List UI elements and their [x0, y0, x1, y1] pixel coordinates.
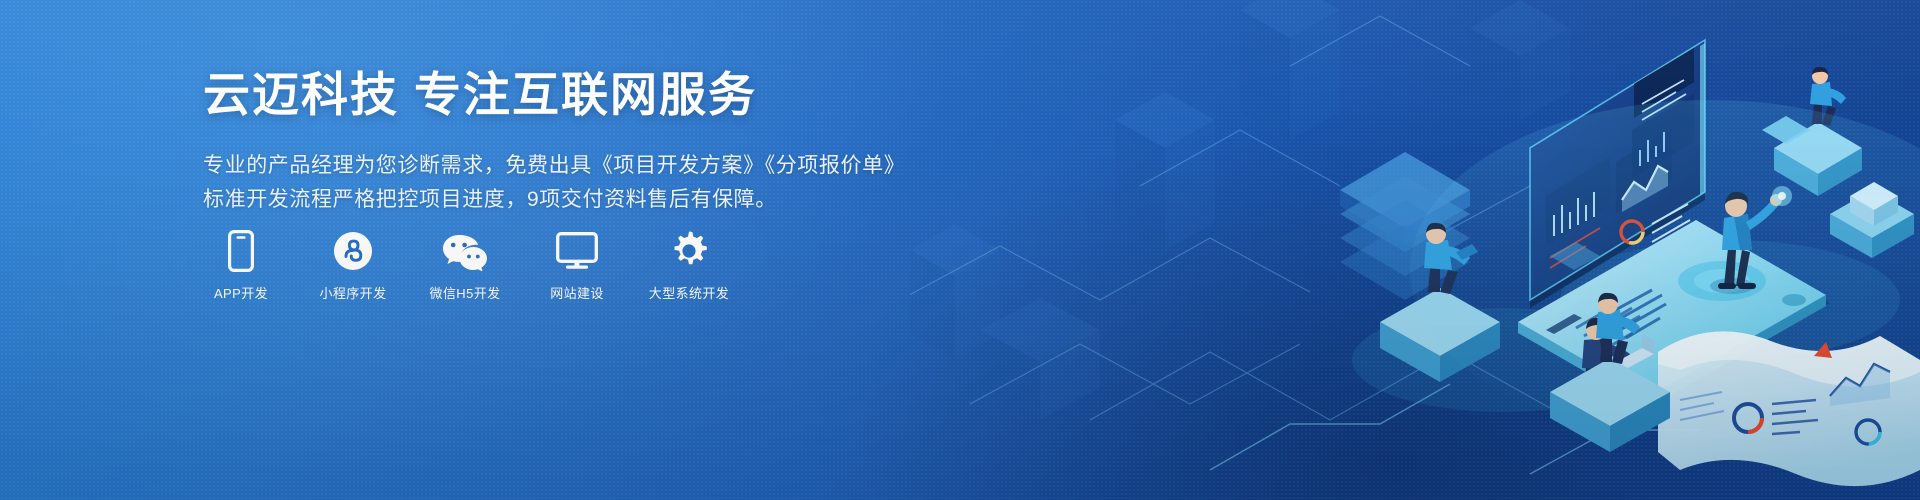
service-label: 微信H5开发 [429, 287, 500, 300]
isometric-tech-illustration [910, 0, 1920, 500]
wechat-icon [442, 228, 488, 274]
service-label: APP开发 [214, 287, 268, 300]
promo-banner: 云迈科技 专注互联网服务 专业的产品经理为您诊断需求，免费出具《项目开发方案》《… [0, 0, 1920, 500]
server-stack [1340, 152, 1470, 300]
service-item-wechat-h5[interactable]: 微信H5开发 [427, 228, 503, 300]
service-item-mini-program[interactable]: 小程序开发 [315, 228, 391, 300]
mini-program-icon [333, 228, 373, 274]
banner-copy: 云迈科技 专注互联网服务 专业的产品经理为您诊断需求，免费出具《项目开发方案》《… [203, 66, 923, 217]
person-standing [1710, 186, 1792, 294]
pedestal-bottom-right [1550, 358, 1670, 452]
page-title: 云迈科技 专注互联网服务 [203, 66, 923, 123]
dashboard-screen [1530, 40, 1705, 308]
glow-pads [1352, 240, 1900, 412]
pedestal-bottom-left [1380, 288, 1500, 382]
gear-icon [668, 228, 710, 274]
background-geometry [910, 0, 1570, 420]
pedestal-right [1774, 122, 1862, 196]
service-label: 大型系统开发 [649, 287, 729, 300]
subtitle-line-2: 标准开发流程严格把控项目进度，9项交付资料售后有保障。 [203, 183, 923, 217]
mobile-phone-icon [228, 228, 254, 274]
service-label: 小程序开发 [319, 287, 386, 300]
subtitle-line-1: 专业的产品经理为您诊断需求，免费出具《项目开发方案》《分项报价单》 [203, 149, 923, 183]
monitor-icon [556, 228, 598, 274]
service-label: 网站建设 [550, 287, 604, 300]
person-bottom-left [1424, 223, 1478, 294]
floating-card [1550, 116, 1810, 270]
phone-platform [1518, 220, 1830, 408]
service-list: APP开发 小程序开发 微信 [203, 228, 727, 300]
subtitle-block: 专业的产品经理为您诊断需求，免费出具《项目开发方案》《分项报价单》 标准开发流程… [203, 149, 923, 217]
service-item-website[interactable]: 网站建设 [539, 228, 615, 300]
person-seated-laptop [1574, 290, 1666, 413]
pedestal-box [1830, 182, 1914, 258]
data-report-sheet [1658, 331, 1920, 486]
circuit-lines [910, 16, 1630, 420]
person-bottom-right [1596, 293, 1640, 364]
person-on-pedestal [1810, 67, 1846, 126]
service-item-app[interactable]: APP开发 [203, 228, 279, 300]
service-item-large-system[interactable]: 大型系统开发 [651, 228, 727, 300]
